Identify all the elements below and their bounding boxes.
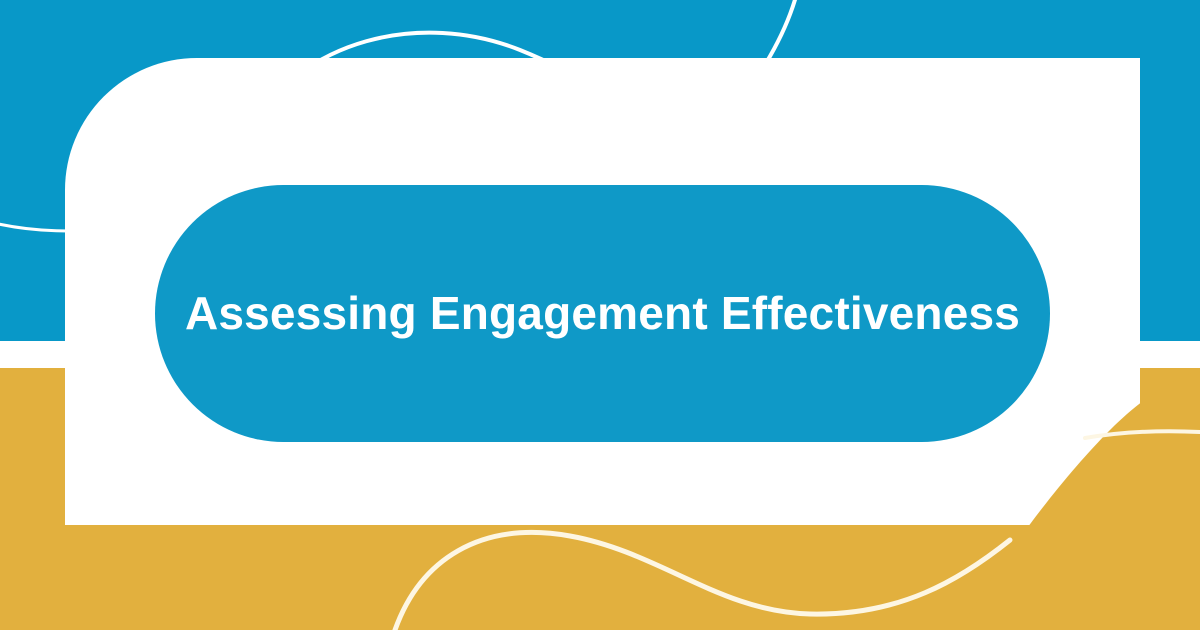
- page-title: Assessing Engagement Effectiveness: [151, 288, 1054, 339]
- title-pill: Assessing Engagement Effectiveness: [155, 185, 1050, 442]
- banner-canvas: Assessing Engagement Effectiveness: [0, 0, 1200, 630]
